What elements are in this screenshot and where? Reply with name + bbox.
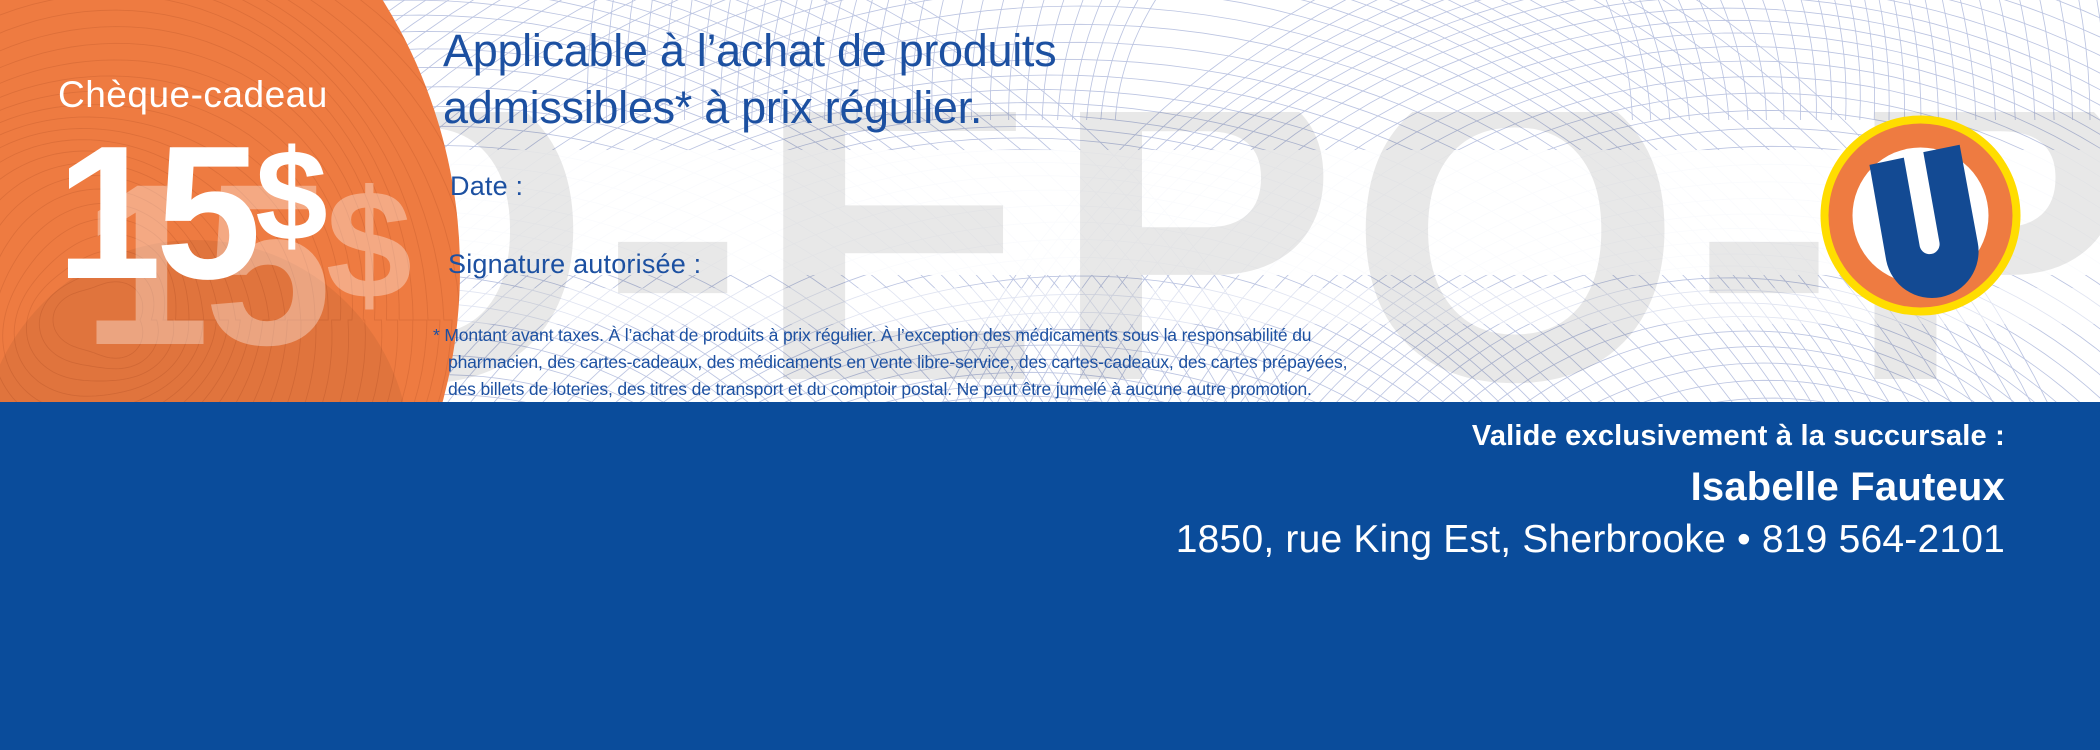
fine-print-disclaimer: * Montant avant taxes. À l’achat de prod… xyxy=(433,322,1853,402)
headline: Applicable à l’achat de produits admissi… xyxy=(443,22,1743,136)
branch-name: Isabelle Fauteux xyxy=(1176,465,2005,510)
uniprix-logo xyxy=(1818,113,2023,318)
branch-address: 1850, rue King Est, Sherbrooke • 819 564… xyxy=(1176,518,2005,562)
fine-print-line-3: des billets de loteries, des titres de t… xyxy=(433,376,1853,403)
gift-certificate-coupon: PO-EPO-PP Chèque-cadeau 15$ 15$ Applicab… xyxy=(0,0,2100,750)
footer-content: Valide exclusivement à la succursale : I… xyxy=(1176,420,2005,562)
signature-field-label[interactable]: Signature autorisée : xyxy=(448,249,701,280)
headline-line-2: admissibles* à prix régulier. xyxy=(443,79,1743,136)
fine-print-line-2: pharmacien, des cartes-cadeaux, des médi… xyxy=(433,349,1853,376)
fine-print-line-1: * Montant avant taxes. À l’achat de prod… xyxy=(433,322,1853,349)
date-field-label[interactable]: Date : xyxy=(450,171,523,202)
valid-at-label: Valide exclusivement à la succursale : xyxy=(1176,420,2005,453)
headline-line-1: Applicable à l’achat de produits xyxy=(443,22,1743,79)
footer-bar: Valide exclusivement à la succursale : I… xyxy=(0,402,2100,750)
voucher-amount: 15$ xyxy=(56,118,322,308)
